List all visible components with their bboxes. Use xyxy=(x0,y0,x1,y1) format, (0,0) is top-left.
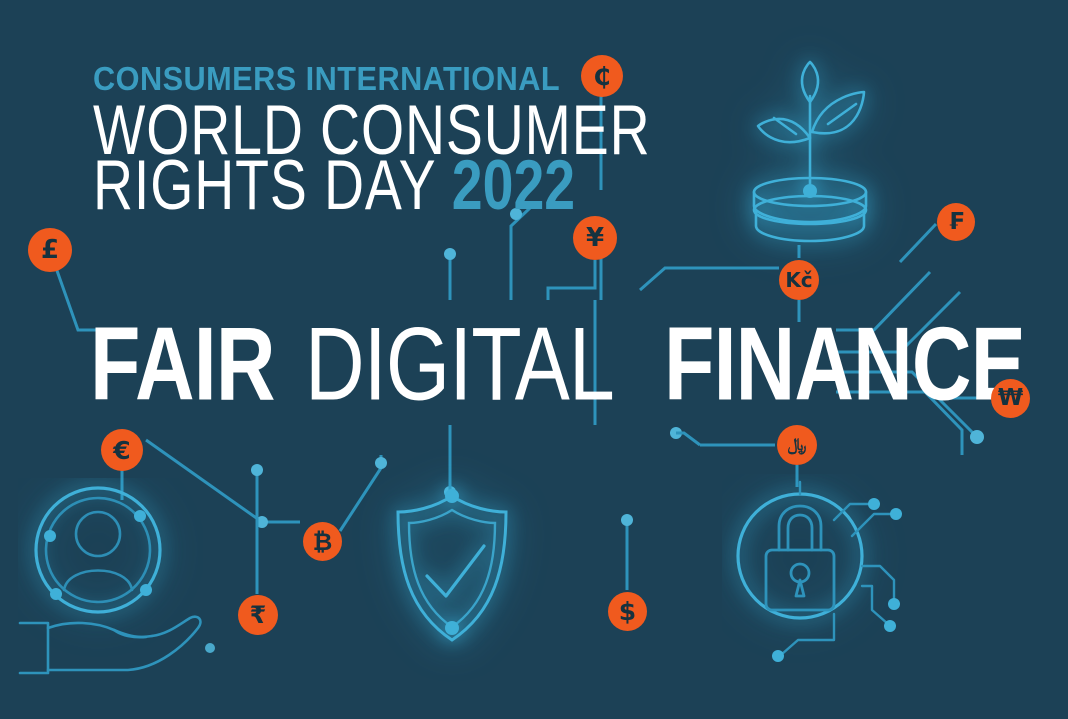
currency-badge-pound-sterling: £ xyxy=(28,228,72,272)
campaign-heading: WORLD CONSUMER RIGHTS DAY 2022 xyxy=(93,100,523,211)
currency-badge-czech-koruna: Kč xyxy=(779,260,819,300)
currency-badge-yen: ¥ xyxy=(573,216,617,260)
campaign-heading-line-2: RIGHTS DAY 2022 xyxy=(93,155,471,217)
shield-check-illustration xyxy=(392,488,512,653)
page-title: FAIRDIGITALFINANCE xyxy=(90,313,1068,409)
title-word-fair: FAIR xyxy=(90,313,275,417)
title-word-finance: FINANCE xyxy=(664,313,1025,417)
currency-badge-franc: ₣ xyxy=(937,203,975,241)
campaign-year: 2022 xyxy=(452,146,575,224)
padlock-circuit-illustration xyxy=(722,474,912,679)
campaign-heading-line-2-text: RIGHTS DAY xyxy=(93,146,452,224)
hand-holding-user-illustration xyxy=(18,478,203,683)
currency-badge-won: ₩ xyxy=(991,379,1030,418)
currency-badge-indian-rupee: ₹ xyxy=(238,595,278,635)
currency-badge-cedi: ₵ xyxy=(581,55,623,97)
currency-badge-dollar: $ xyxy=(608,592,647,631)
title-word-digital: DIGITAL xyxy=(305,313,614,417)
currency-badge-bitcoin: ₿ xyxy=(303,522,342,561)
currency-badge-euro: € xyxy=(101,429,143,471)
currency-badge-iranian-rial: ﷼ xyxy=(777,425,817,465)
plant-growing-from-coins-illustration xyxy=(730,60,890,265)
poster-canvas: .tr{ fill:none; stroke:#2e93bb; stroke-w… xyxy=(0,0,1068,719)
